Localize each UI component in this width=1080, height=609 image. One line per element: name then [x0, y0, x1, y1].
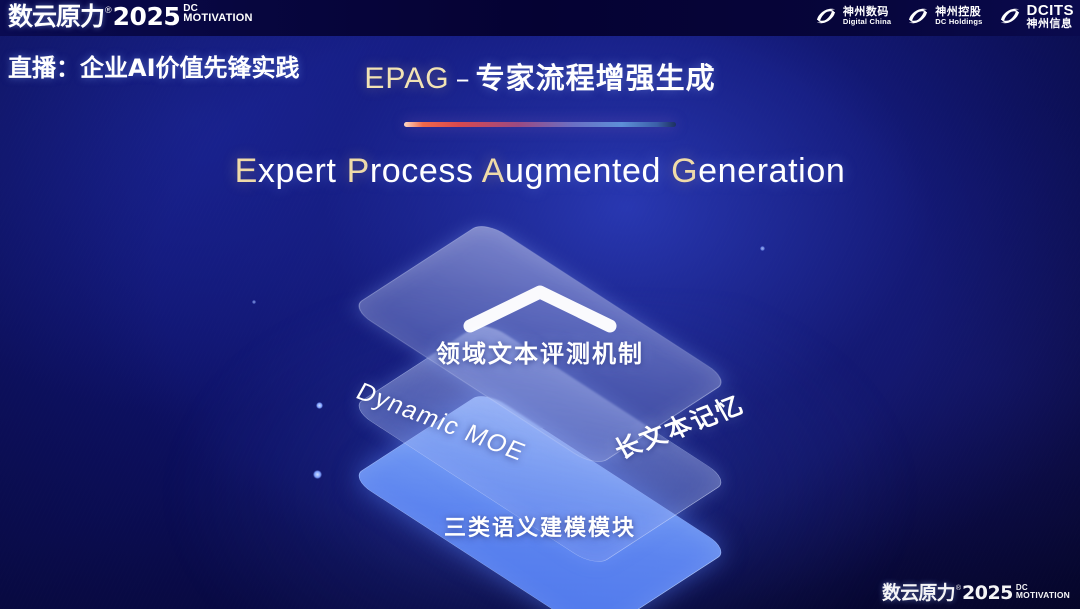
- swirl-icon: [813, 3, 839, 29]
- subtitle-cap-a: A: [482, 152, 505, 190]
- partner-logo-group: 神州数码 Digital China 神州控股 DC Holdings: [813, 3, 1074, 29]
- watermark-registered-mark: ®: [956, 584, 961, 593]
- partner-name-en: DCITS: [1027, 3, 1075, 18]
- partner-text: 神州数码 Digital China: [843, 6, 891, 26]
- subtitle-cap-e: E: [235, 152, 258, 190]
- subtitle-rest-augmented: ugmented: [505, 152, 661, 190]
- subtitle-rest-expert: xpert: [258, 152, 337, 190]
- brand-year: 2025: [113, 2, 181, 32]
- subtitle-cap-p: P: [347, 152, 370, 190]
- brand-motivation: MOTIVATION: [183, 13, 252, 24]
- watermark-name-cn: 数云原力: [882, 582, 955, 605]
- watermark-year: 2025: [962, 582, 1013, 605]
- partner-name-en: Digital China: [843, 18, 891, 26]
- partner-name-en: DC Holdings: [935, 18, 982, 26]
- subtitle-rest-generation: eneration: [698, 152, 845, 190]
- swirl-icon: [997, 3, 1023, 29]
- brand-dc-motivation: DC MOTIVATION: [183, 4, 252, 24]
- brand-name-cn: 数云原力: [8, 2, 104, 32]
- title-chinese: 专家流程增强生成: [476, 61, 716, 95]
- swirl-icon: [905, 3, 931, 29]
- gradient-divider: [404, 122, 676, 127]
- partner-name-cn: 神州数码: [843, 6, 891, 17]
- partner-logo-dcits: DCITS 神州信息: [997, 3, 1075, 29]
- partner-text: DCITS 神州信息: [1027, 3, 1075, 29]
- registered-mark: ®: [105, 4, 112, 16]
- subtitle: Expert Process Augmented Generation: [0, 152, 1080, 191]
- title-acronym: EPAG: [364, 62, 449, 95]
- stack-layer-bottom-label: 三类语义建模模块: [444, 510, 636, 542]
- partner-logo-digital-china: 神州数码 Digital China: [813, 3, 891, 29]
- watermark-motivation: MOTIVATION: [1016, 591, 1070, 600]
- subtitle-cap-g: G: [671, 152, 698, 190]
- partner-name-cn: 神州信息: [1027, 18, 1075, 29]
- partner-name-cn: 神州控股: [935, 6, 982, 17]
- subtitle-rest-process: rocess: [370, 152, 474, 190]
- live-stream-title: 直播：企业AI价值先锋实践: [8, 48, 300, 83]
- slide-canvas: 数云原力 ® 2025 DC MOTIVATION 直播：企业AI价值先锋实践 …: [0, 0, 1080, 609]
- watermark-dc-motivation: DC MOTIVATION: [1016, 584, 1070, 600]
- layer-stack-diagram: 领域文本评测机制 Dynamic MOE 长文本记忆 三类语义建模模块: [280, 232, 800, 562]
- brand-logo: 数云原力 ® 2025 DC MOTIVATION: [8, 2, 253, 32]
- title-dash: –: [456, 62, 470, 95]
- brand-watermark: 数云原力 ® 2025 DC MOTIVATION: [882, 582, 1070, 605]
- stack-layer-top-label: 领域文本评测机制: [436, 334, 644, 369]
- partner-logo-dc-holdings: 神州控股 DC Holdings: [905, 3, 982, 29]
- partner-text: 神州控股 DC Holdings: [935, 6, 982, 26]
